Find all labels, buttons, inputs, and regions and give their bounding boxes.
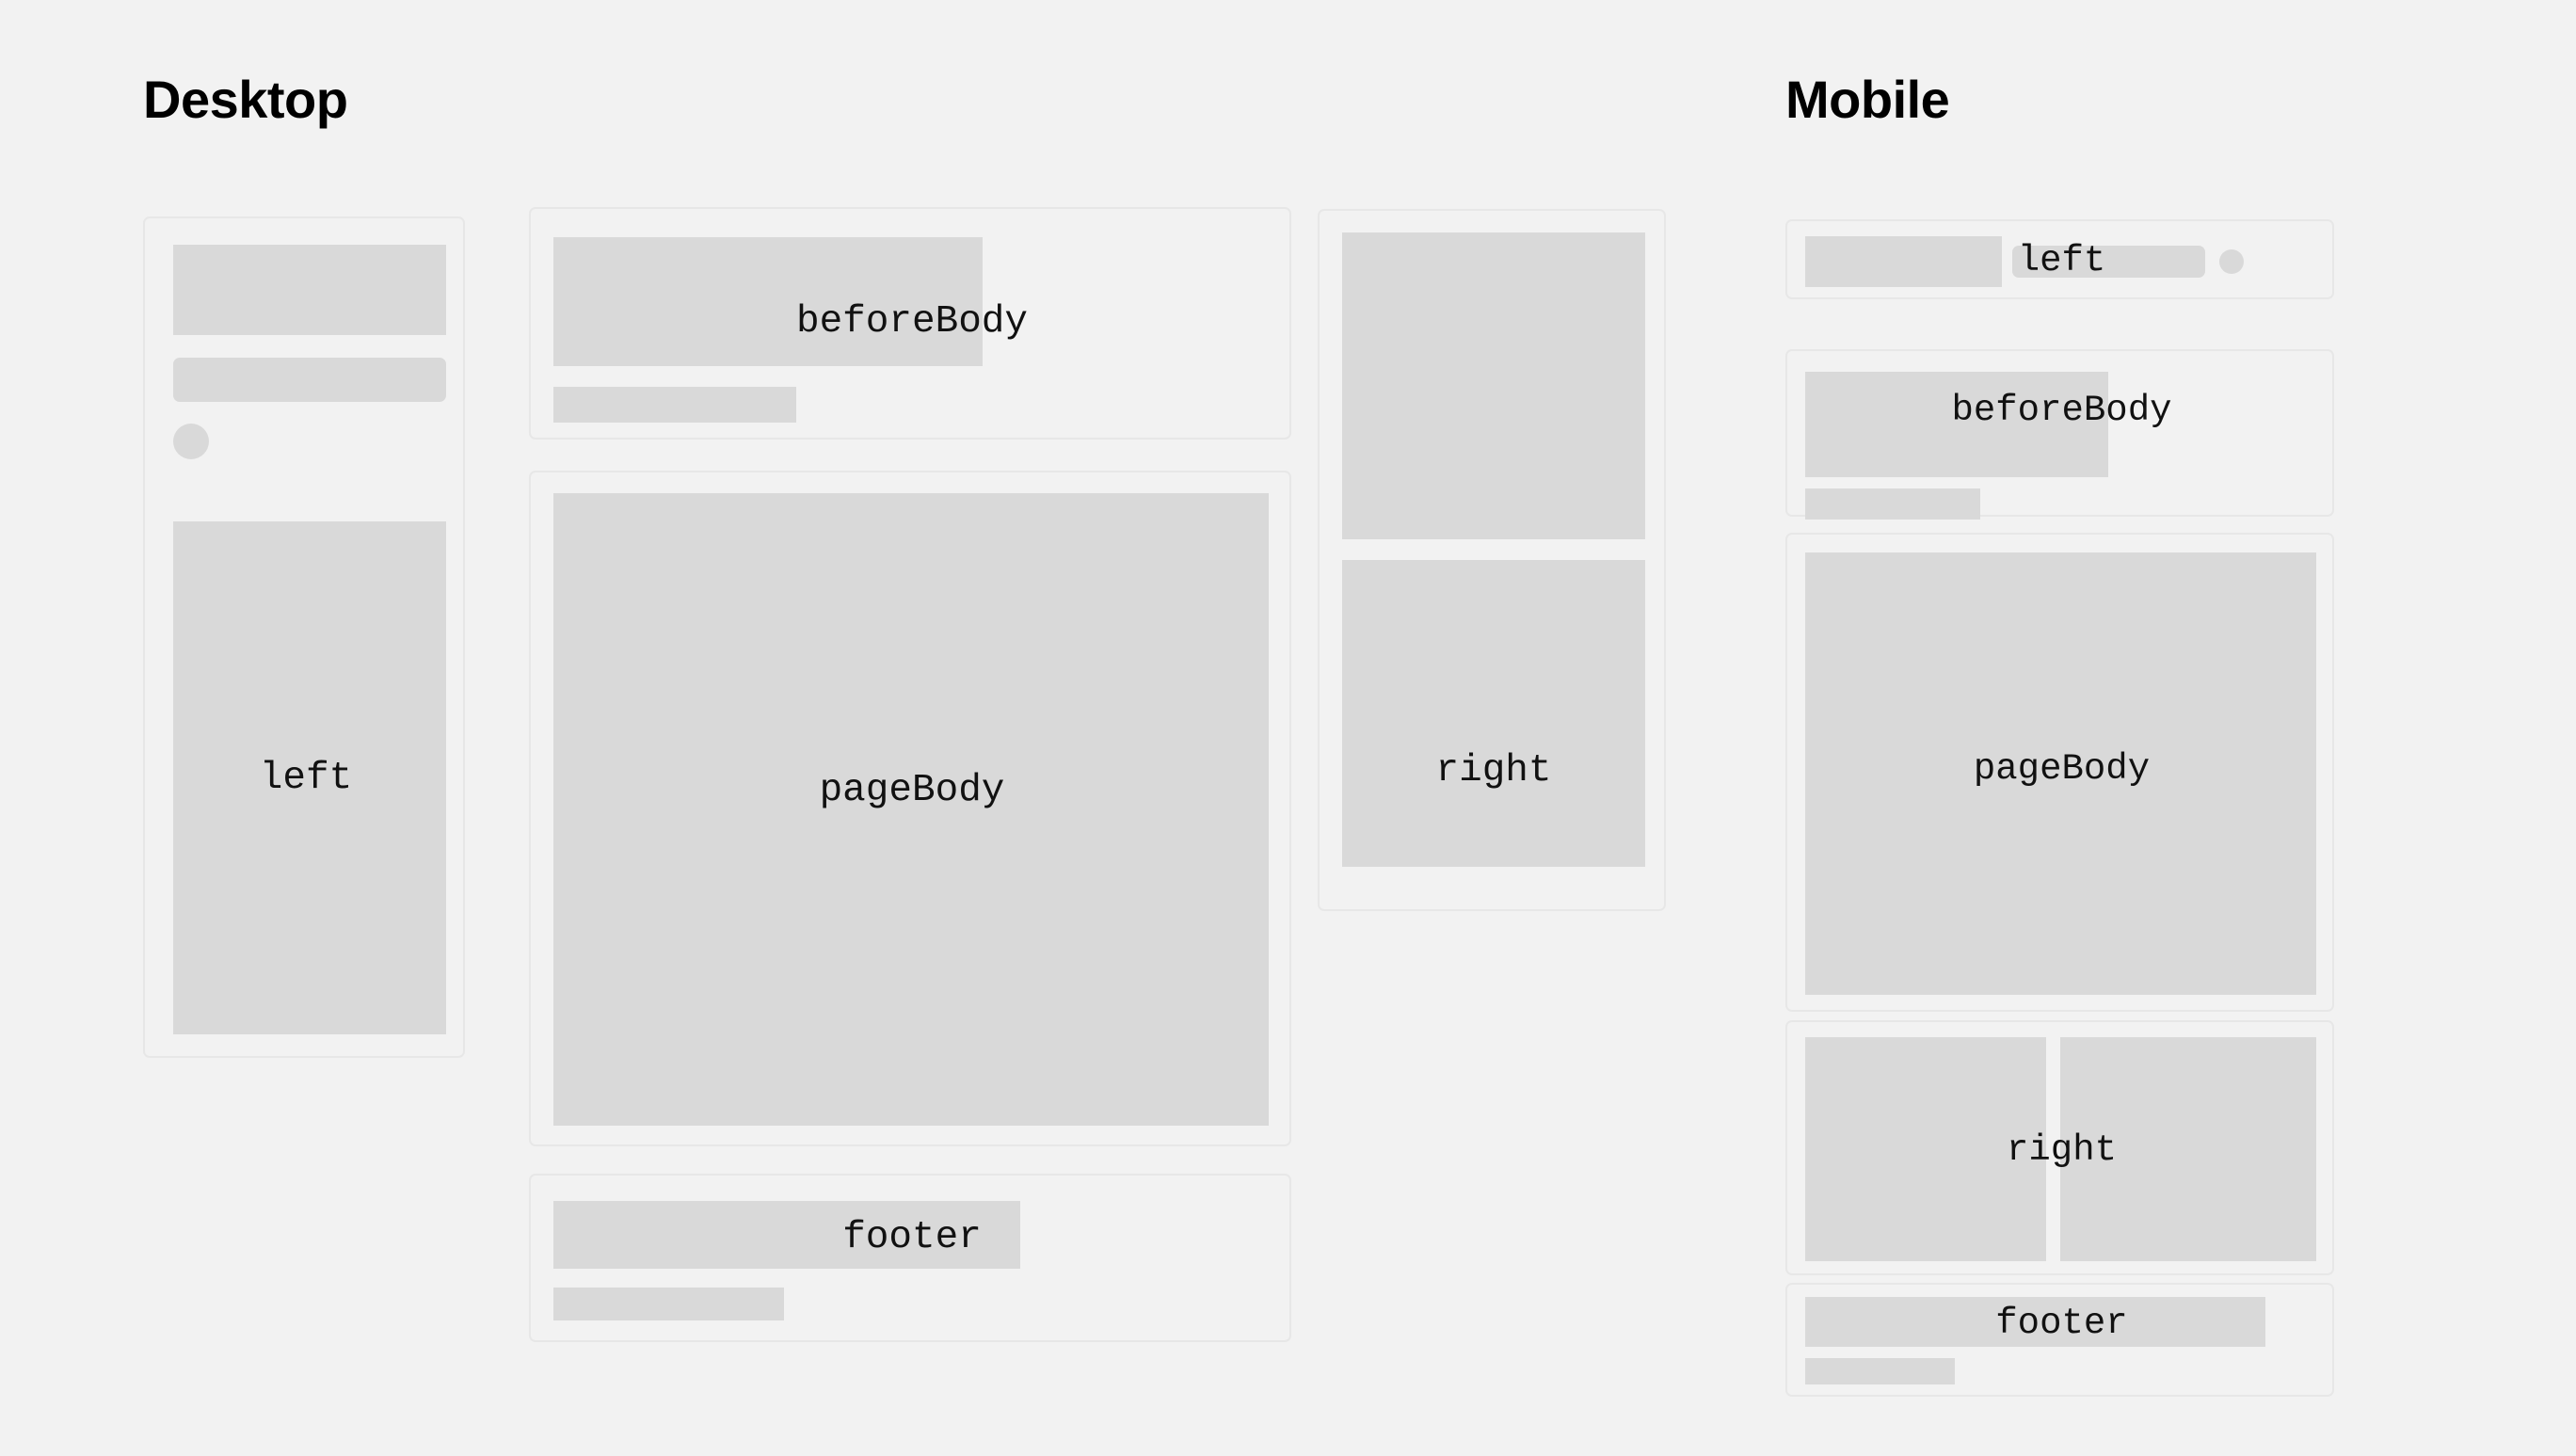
placeholder-block (1342, 232, 1645, 539)
placeholder-block (1342, 560, 1645, 867)
placeholder-bar (1805, 1358, 1955, 1384)
placeholder-block (553, 237, 983, 366)
desktop-beforebody-panel[interactable]: beforeBody (529, 207, 1291, 440)
placeholder-block (173, 521, 446, 1034)
placeholder-avatar (2219, 249, 2244, 274)
placeholder-block (1805, 236, 2002, 287)
desktop-left-panel[interactable]: left (143, 216, 465, 1058)
placeholder-bar (2012, 246, 2205, 278)
placeholder-block (553, 1201, 1020, 1269)
mobile-pagebody-panel[interactable]: pageBody (1785, 533, 2334, 1012)
desktop-section-title: Desktop (143, 73, 347, 126)
desktop-footer-panel[interactable]: footer (529, 1174, 1291, 1342)
desktop-right-panel[interactable]: right (1318, 209, 1666, 911)
placeholder-bar (553, 1288, 784, 1320)
mobile-section-title: Mobile (1785, 73, 1949, 126)
mobile-left-panel[interactable]: left (1785, 219, 2334, 299)
placeholder-block (1805, 1037, 2046, 1261)
placeholder-block (553, 493, 1269, 1126)
placeholder-bar (1805, 488, 1980, 520)
wireframe-canvas: Desktop left beforeBody pageBody right (0, 0, 2576, 1456)
mobile-footer-panel[interactable]: footer (1785, 1283, 2334, 1397)
placeholder-block (2060, 1037, 2316, 1261)
placeholder-avatar (173, 424, 209, 459)
placeholder-bar (173, 358, 446, 402)
mobile-right-panel[interactable]: right (1785, 1020, 2334, 1275)
desktop-pagebody-panel[interactable]: pageBody (529, 471, 1291, 1146)
placeholder-block (173, 245, 446, 335)
mobile-beforebody-panel[interactable]: beforeBody (1785, 349, 2334, 517)
placeholder-block (1805, 372, 2108, 477)
placeholder-bar (553, 387, 796, 423)
placeholder-block (1805, 552, 2316, 995)
placeholder-block (1805, 1297, 2265, 1347)
